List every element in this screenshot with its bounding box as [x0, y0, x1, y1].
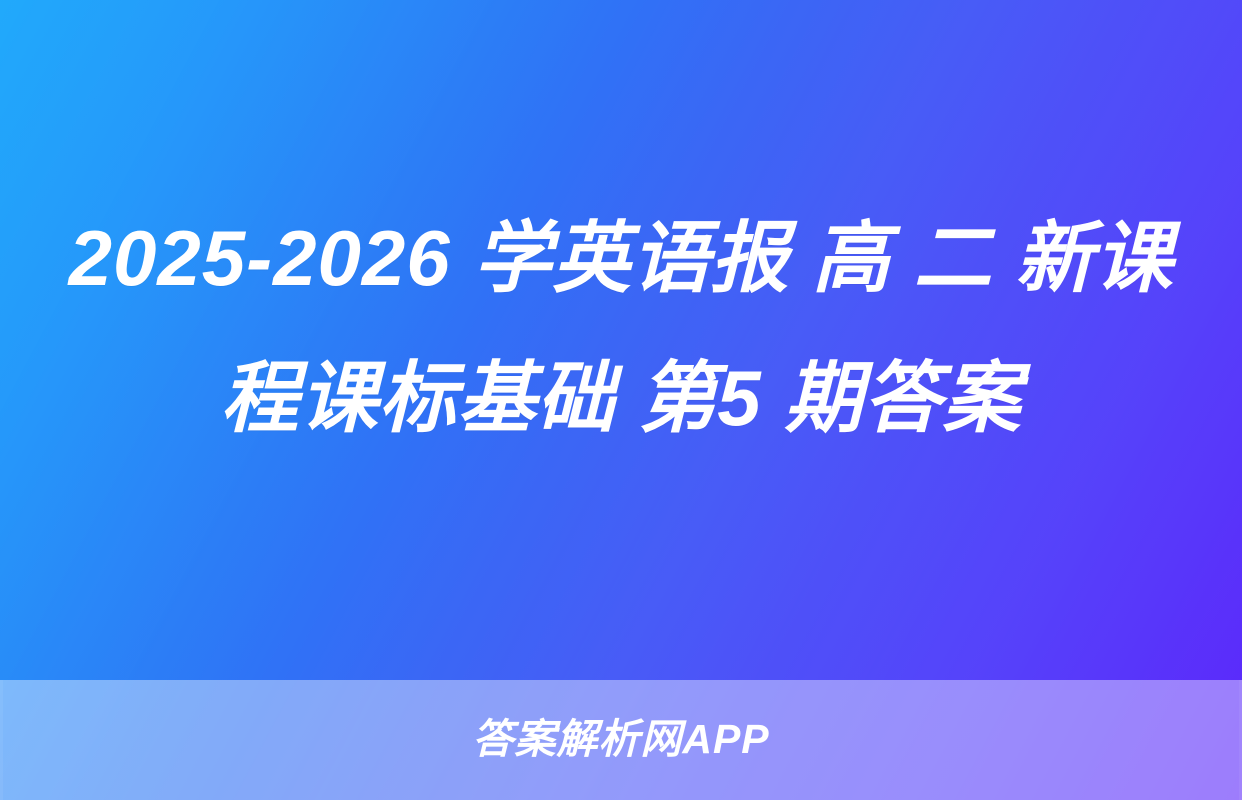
page-title-line-3: 期答案	[784, 354, 1021, 442]
brand-footer-band: 答案解析网APP	[0, 680, 1242, 800]
brand-watermark-label: 答案解析网APP	[472, 719, 769, 762]
page-title-line-1: 2025-2026 学英语报 高	[69, 214, 891, 302]
page-title: 2025-2026 学英语报 高 二 新课程课标基础 第5 期答案	[0, 188, 1242, 468]
poster-canvas: 2025-2026 学英语报 高 二 新课程课标基础 第5 期答案 答案解析网A…	[0, 0, 1242, 800]
